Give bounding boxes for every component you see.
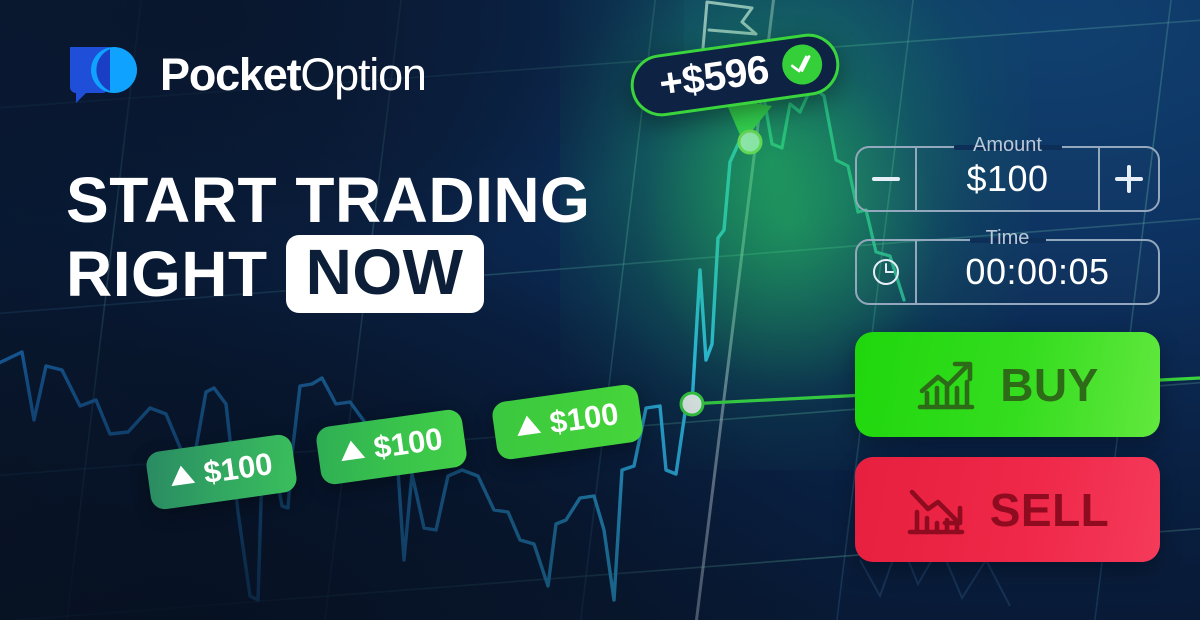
profit-badge: +$596	[627, 30, 843, 121]
pocket-option-speech-bubble-logo	[66, 43, 144, 105]
exit-dot	[739, 131, 761, 153]
triangle-up-icon	[169, 464, 195, 486]
plus-icon	[1115, 165, 1143, 193]
sell-label: SELL	[990, 483, 1110, 537]
buy-button[interactable]: BUY	[855, 332, 1160, 437]
minus-icon	[872, 177, 900, 181]
entry-dot	[681, 393, 703, 415]
brand-name-bold: Pocket	[160, 49, 300, 100]
amount-increase-button[interactable]	[1098, 148, 1158, 210]
page-title: START TRADING RIGHT NOW	[66, 166, 590, 313]
trade-panel: Amount $100 Time 00:00:05	[855, 146, 1160, 582]
trade-marker-amount: $100	[372, 421, 445, 466]
headline-highlight: NOW	[286, 235, 484, 313]
brand-logo[interactable]: PocketOption	[66, 43, 426, 105]
buy-label: BUY	[1000, 358, 1099, 412]
time-label: Time	[976, 228, 1040, 248]
chart-trend-up-icon	[916, 357, 978, 413]
double-check-icon	[779, 42, 824, 87]
time-field[interactable]: Time 00:00:05	[855, 239, 1160, 305]
trade-marker: $100	[315, 408, 469, 486]
trade-marker: $100	[491, 383, 645, 461]
chart-trend-down-icon	[906, 482, 968, 538]
profit-amount: +$596	[657, 49, 771, 104]
time-input[interactable]: 00:00:05	[917, 241, 1158, 303]
sell-button[interactable]: SELL	[855, 457, 1160, 562]
headline-line-1: START TRADING	[66, 166, 590, 235]
trade-marker-amount: $100	[548, 396, 621, 441]
promo-banner: PocketOption START TRADING RIGHT NOW $10…	[0, 0, 1200, 620]
brand-name: PocketOption	[160, 52, 426, 97]
clock-icon	[870, 256, 902, 288]
headline-line-2: RIGHT NOW	[66, 235, 590, 313]
trade-marker: $100	[145, 433, 299, 511]
brand-name-light: Option	[300, 49, 425, 100]
trade-marker-amount: $100	[202, 446, 275, 491]
triangle-up-icon	[339, 439, 365, 461]
amount-input[interactable]: $100	[917, 148, 1098, 210]
amount-field[interactable]: Amount $100	[855, 146, 1160, 212]
triangle-up-icon	[515, 414, 541, 436]
amount-decrease-button[interactable]	[857, 148, 917, 210]
headline-line-2-prefix: RIGHT	[66, 240, 268, 309]
time-picker-button[interactable]	[857, 241, 917, 303]
amount-label: Amount	[963, 135, 1052, 155]
